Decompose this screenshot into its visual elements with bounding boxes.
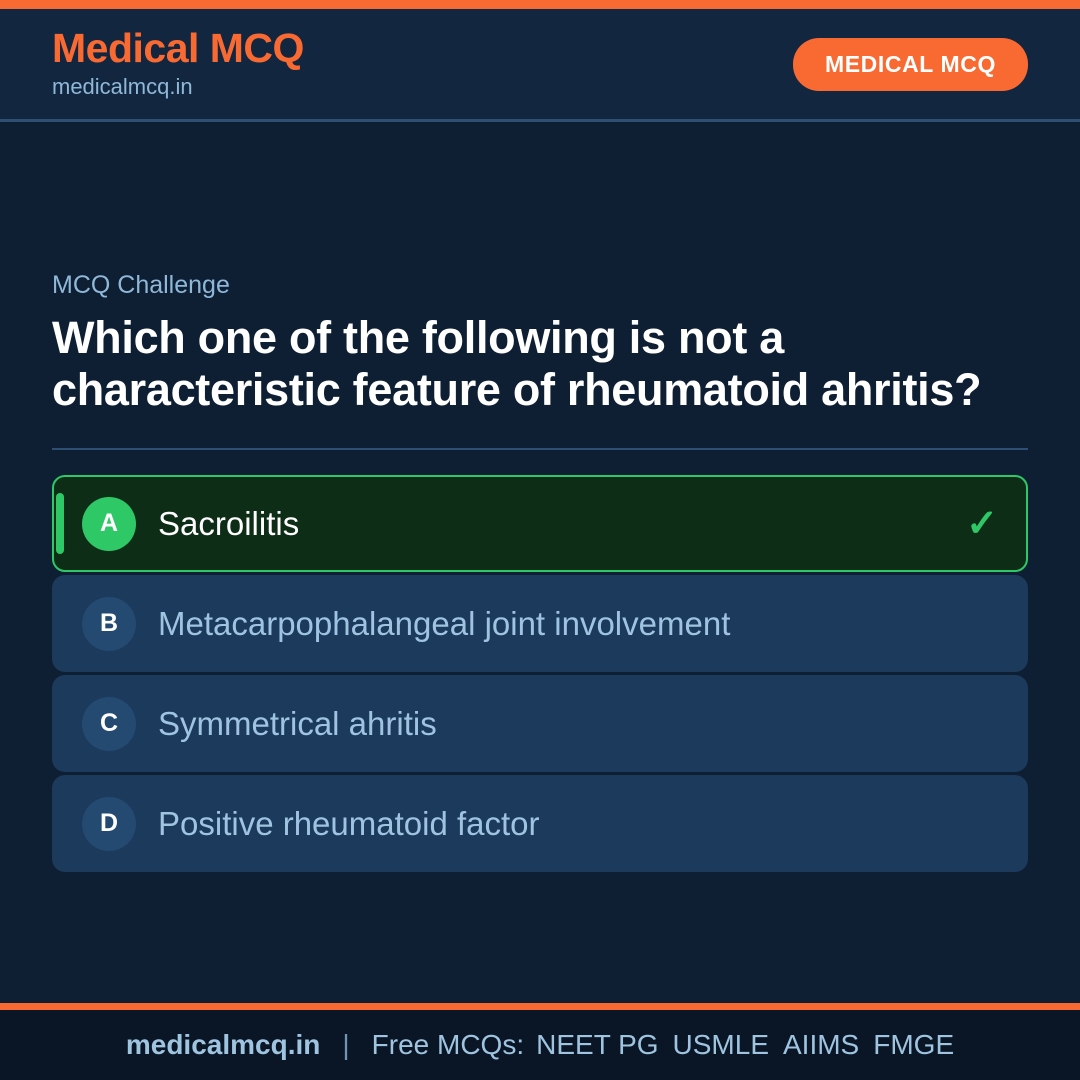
- footer-site-name: medicalmcq.in: [126, 1029, 321, 1061]
- page-footer: medicalmcq.in | Free MCQs: NEET PG USMLE…: [0, 1003, 1080, 1080]
- option-text-c: Symmetrical ahritis: [158, 704, 998, 744]
- option-letter-badge-b: B: [82, 597, 136, 651]
- question-text: Which one of the following is not a char…: [52, 312, 1027, 416]
- check-icon: ✓: [966, 505, 998, 543]
- option-row-a[interactable]: A Sacroilitis ✓: [52, 475, 1028, 572]
- header-badge: MEDICAL MCQ: [793, 38, 1028, 91]
- footer-exam-neet-pg: NEET PG: [536, 1029, 658, 1061]
- option-text-b: Metacarpophalangeal joint involvement: [158, 604, 998, 644]
- option-row-d[interactable]: D Positive rheumatoid factor: [52, 775, 1028, 872]
- footer-text: medicalmcq.in | Free MCQs: NEET PG USMLE…: [126, 1029, 954, 1061]
- main-content: MCQ Challenge Which one of the following…: [0, 122, 1080, 1003]
- option-row-c[interactable]: C Symmetrical ahritis: [52, 675, 1028, 772]
- top-accent-bar: [0, 0, 1080, 9]
- option-letter-badge-a: A: [82, 497, 136, 551]
- question-divider: [52, 448, 1028, 450]
- mcq-poster: Medical MCQ medicalmcq.in MEDICAL MCQ MC…: [0, 0, 1080, 1080]
- option-letter-badge-d: D: [82, 797, 136, 851]
- brand-subtitle: medicalmcq.in: [52, 73, 304, 102]
- option-text-d: Positive rheumatoid factor: [158, 804, 998, 844]
- option-text-a: Sacroilitis: [158, 504, 950, 544]
- footer-label: Free MCQs:: [372, 1029, 524, 1061]
- eyebrow-label: MCQ Challenge: [52, 270, 1028, 300]
- brand-block: Medical MCQ medicalmcq.in: [52, 27, 304, 102]
- options-list: A Sacroilitis ✓ B Metacarpophalangeal jo…: [52, 475, 1028, 872]
- brand-title: Medical MCQ: [52, 27, 304, 70]
- option-letter-badge-c: C: [82, 697, 136, 751]
- footer-exam-fmge: FMGE: [873, 1029, 954, 1061]
- option-row-b[interactable]: B Metacarpophalangeal joint involvement: [52, 575, 1028, 672]
- footer-separator: |: [342, 1029, 349, 1061]
- footer-exam-aiims: AIIMS: [783, 1029, 859, 1061]
- page-header: Medical MCQ medicalmcq.in MEDICAL MCQ: [0, 9, 1080, 122]
- footer-exam-usmle: USMLE: [673, 1029, 769, 1061]
